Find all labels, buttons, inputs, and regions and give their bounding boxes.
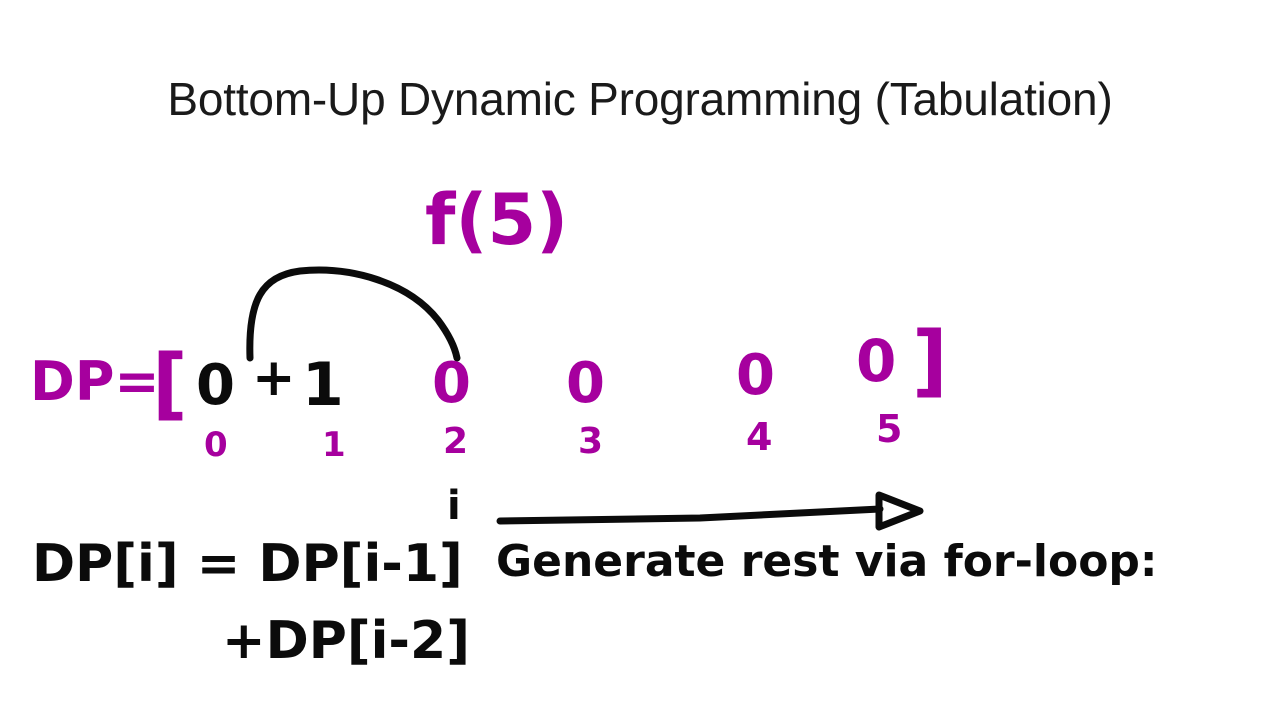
dp-cell-index-1: 1: [322, 428, 346, 462]
ink-strokes-layer: [0, 0, 1280, 720]
plus-operator: +: [252, 352, 296, 404]
array-open-bracket: [: [152, 345, 188, 423]
dp-cell-index-2: 2: [443, 424, 468, 460]
dp-cell-value-5: 0: [856, 332, 896, 390]
dp-cell-index-3: 3: [578, 424, 603, 460]
dp-cell-value-0: 0: [196, 358, 235, 414]
recurrence-line-1: DP[i] = DP[i-1]: [32, 538, 463, 590]
dp-cell-index-4: 4: [746, 418, 772, 456]
array-close-bracket: ]: [912, 322, 948, 400]
sum-arc-connector: [250, 270, 457, 358]
dp-cell-value-4: 0: [736, 348, 775, 404]
dp-cell-index-5: 5: [876, 410, 902, 448]
dp-cell-value-2: 0: [432, 356, 471, 412]
slide-canvas: Bottom-Up Dynamic Programming (Tabulatio…: [0, 0, 1280, 720]
dp-cell-value-3: 0: [566, 356, 605, 412]
dp-cell-index-0: 0: [204, 428, 228, 462]
recurrence-line-2: +DP[i-2]: [222, 615, 470, 667]
iteration-arrow-head: [879, 495, 920, 527]
for-loop-note: Generate rest via for-loop:: [496, 540, 1158, 584]
function-call-label: f(5): [425, 185, 568, 255]
array-name-label: DP=: [30, 355, 160, 409]
dp-cell-value-1: 1: [302, 355, 344, 415]
index-pointer-label: i: [447, 486, 461, 526]
iteration-arrow-shaft: [500, 509, 880, 521]
